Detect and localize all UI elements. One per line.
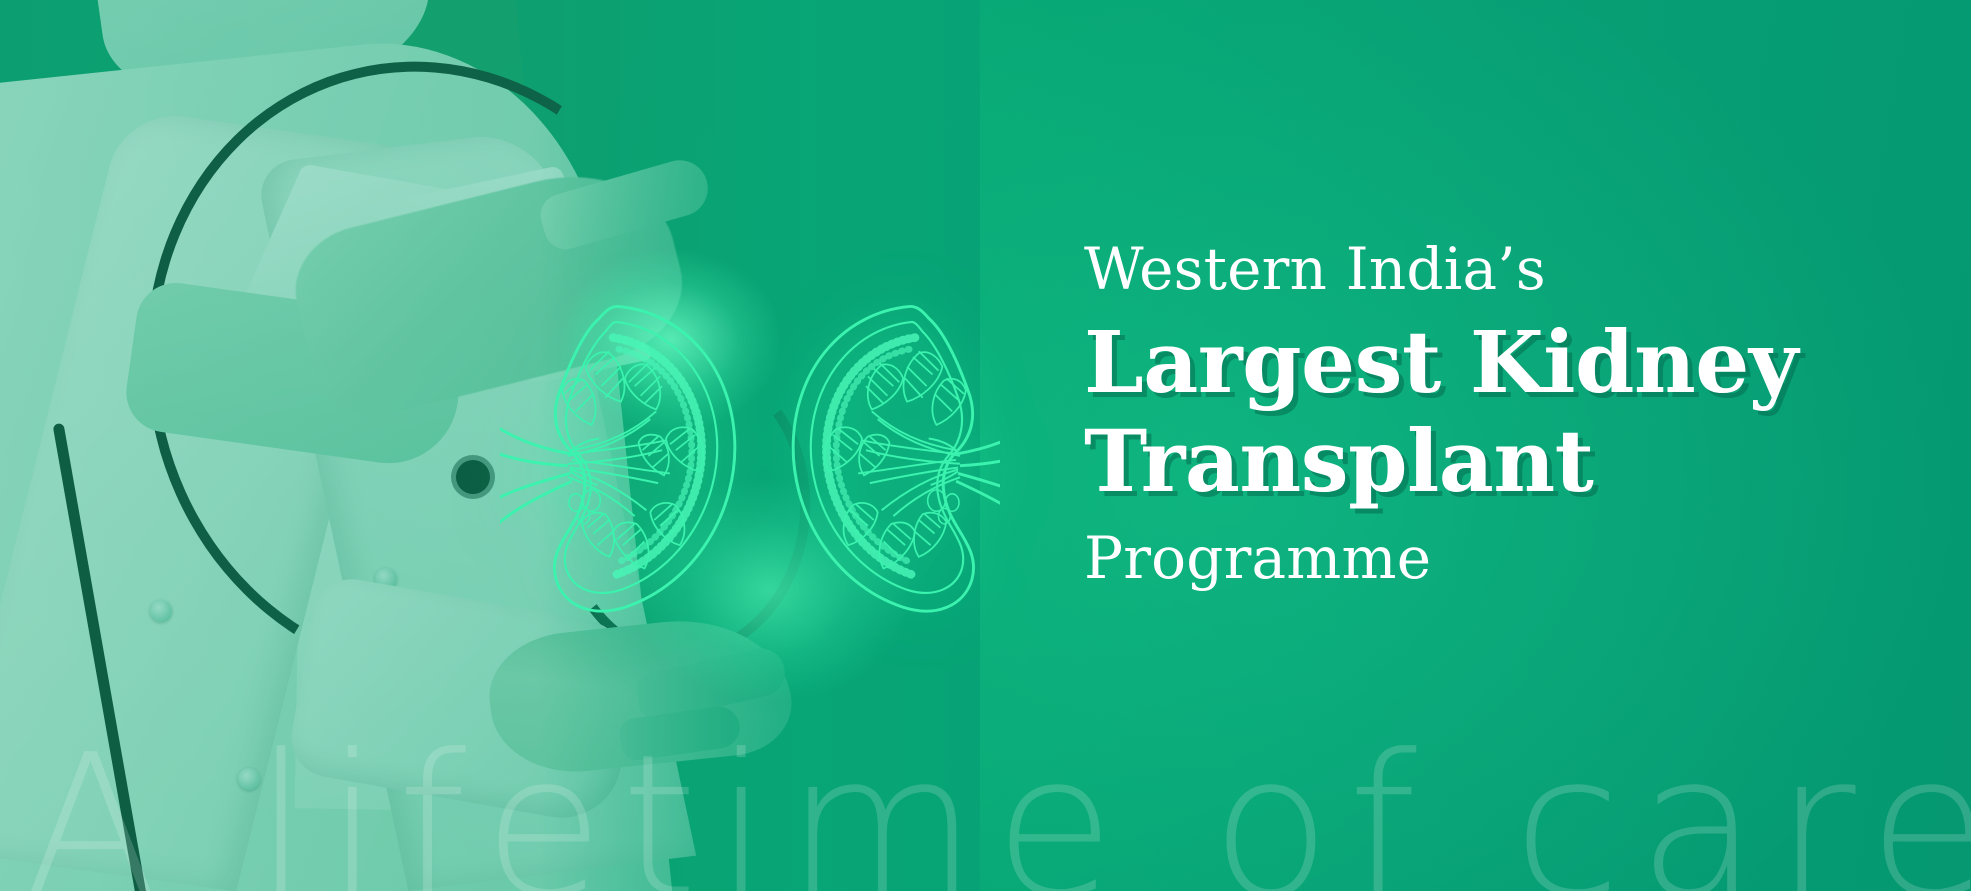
headline-title-line-2: Transplant [1084, 419, 1884, 506]
finger-lower-2 [618, 704, 743, 762]
finger-lower-1 [633, 644, 790, 725]
headline-title-line-1: Largest Kidney [1084, 320, 1884, 407]
face-mask [88, 0, 441, 122]
headline-subtitle: Programme [1084, 529, 1884, 587]
stethoscope-chestpiece [456, 460, 490, 494]
headline-block: Western India’s Largest Kidney Transplan… [1084, 240, 1884, 587]
hero-banner: Western India’s Largest Kidney Transplan… [0, 0, 1971, 891]
coat-button [375, 568, 397, 590]
forearm-upper [121, 278, 469, 472]
kidney-cross-section-right [793, 305, 1000, 611]
doctor-neck [242, 0, 537, 271]
index-finger [536, 154, 715, 255]
shirt-collar-left [218, 164, 476, 386]
shirt [295, 188, 516, 812]
kidney-illustration [500, 285, 1000, 630]
stethoscope-lower-tube [53, 423, 149, 891]
kidney-cross-section-left [500, 305, 735, 611]
headline-eyebrow: Western India’s [1084, 240, 1884, 298]
coat-button [238, 768, 260, 790]
coat-lapel-left [0, 108, 421, 891]
coat-button [150, 600, 172, 622]
coat-button [393, 392, 415, 414]
hand-cupped [484, 610, 797, 781]
